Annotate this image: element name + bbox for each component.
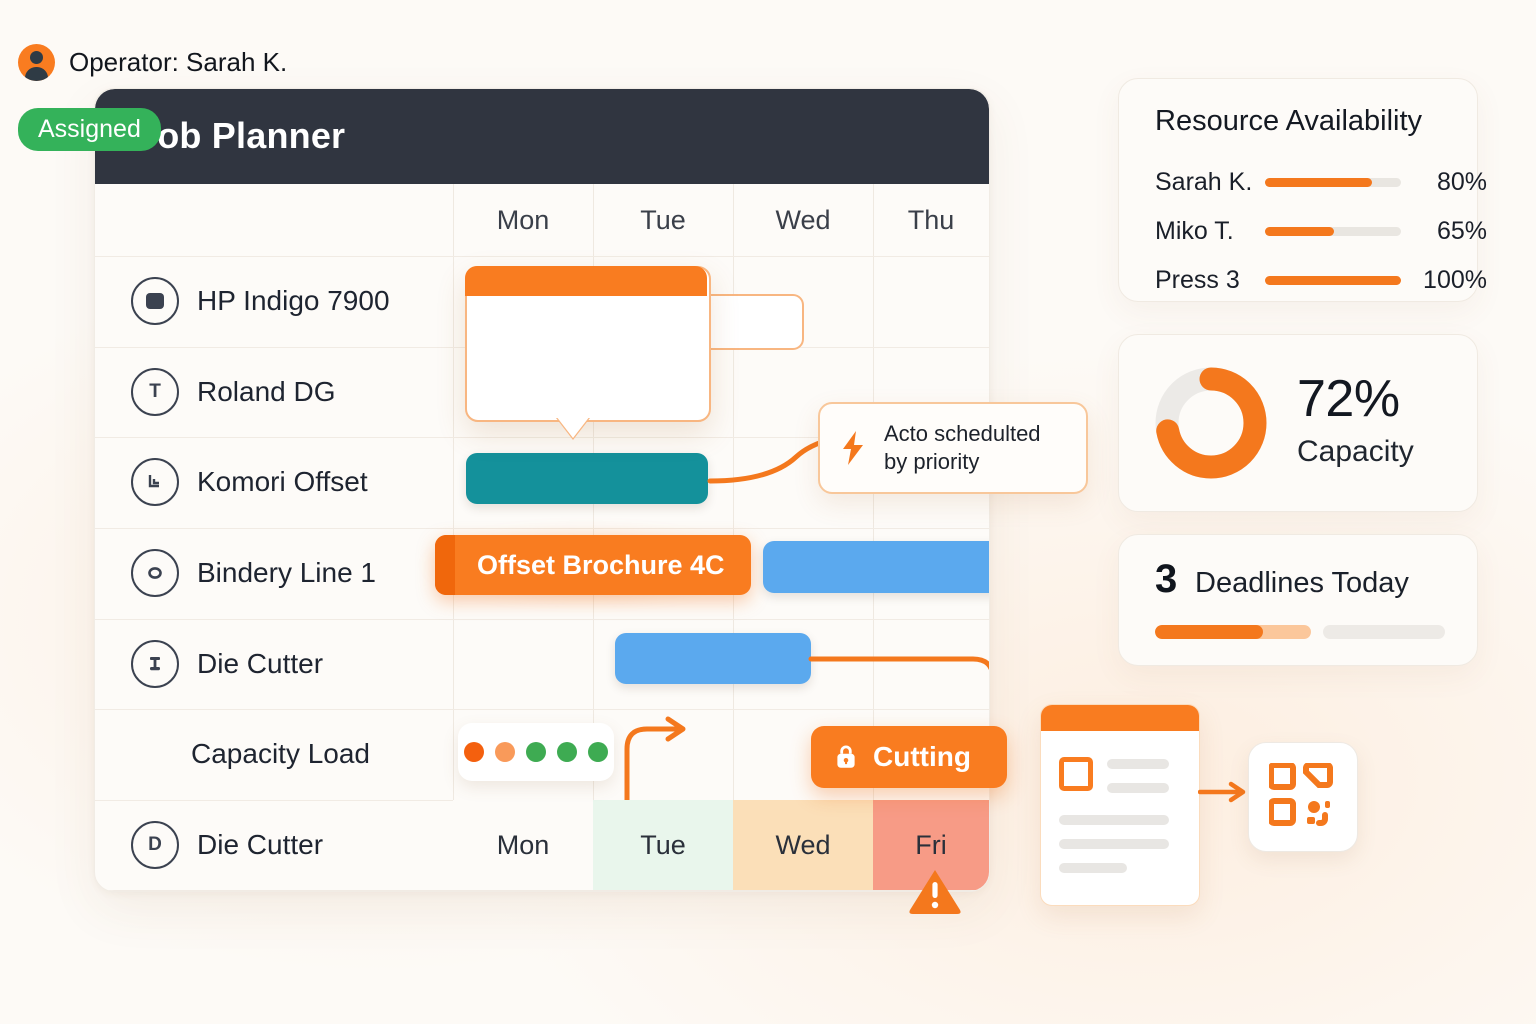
resource-progress-fill xyxy=(1265,276,1401,285)
resource-percent: 80% xyxy=(1401,168,1487,197)
row-capacity-load[interactable]: Capacity Load xyxy=(191,709,370,799)
bindery-job-bar-2[interactable] xyxy=(763,541,990,593)
row-label: Die Cutter xyxy=(197,829,323,861)
day-header-tue[interactable]: Tue xyxy=(593,184,733,256)
day-header-mon[interactable]: Mon xyxy=(453,184,593,256)
capacity-donut-chart xyxy=(1151,363,1271,488)
status-badge: Assigned xyxy=(18,108,161,151)
die-icon: D xyxy=(131,821,179,869)
day-header-wed[interactable]: Wed xyxy=(733,184,873,256)
capacity-panel: 72% Capacity xyxy=(1118,334,1478,512)
resource-percent: 100% xyxy=(1401,266,1487,295)
capacity-percent-value: 72% xyxy=(1297,369,1400,429)
deadlines-progress-b xyxy=(1323,625,1445,639)
capacity-dot xyxy=(588,742,608,762)
priority-callout-text: Acto schedulted by priority xyxy=(884,420,1041,476)
day-header-thu[interactable]: Thu xyxy=(873,184,989,256)
row-label: Roland DG xyxy=(197,376,336,408)
operator-popover[interactable] xyxy=(465,266,711,422)
deadlines-panel: 3 Deadlines Today xyxy=(1118,534,1478,666)
die-cutter-icon xyxy=(131,640,179,688)
row-die-cutter[interactable]: Die Cutter xyxy=(131,619,323,709)
capacity-dot xyxy=(464,742,484,762)
lightning-bolt-icon xyxy=(838,429,868,467)
resource-progress-fill xyxy=(1265,178,1372,187)
popover-accent-strip xyxy=(465,266,707,296)
capacity-caption: Capacity xyxy=(1297,435,1414,469)
resource-progress-track xyxy=(1265,178,1401,187)
bottom-day-mon[interactable]: Mon xyxy=(453,800,593,890)
capacity-load-dots[interactable] xyxy=(458,723,614,781)
qr-code-icon[interactable] xyxy=(1248,742,1358,852)
cutting-chip-label: Cutting xyxy=(873,741,971,773)
lock-icon xyxy=(833,743,859,771)
document-text-line xyxy=(1107,783,1169,793)
resource-name: Press 3 xyxy=(1155,266,1263,295)
document-thumbnail-icon xyxy=(1059,757,1093,791)
row-hp-indigo-7900[interactable]: HP Indigo 7900 xyxy=(131,256,390,346)
panel-title: Resource Availability xyxy=(1155,105,1422,138)
row-label: Die Cutter xyxy=(197,648,323,680)
row-komori-offset[interactable]: Komori Offset xyxy=(131,437,368,527)
document-text-line xyxy=(1059,815,1169,825)
bottom-day-tue[interactable]: Tue xyxy=(593,800,733,890)
document-text-line xyxy=(1059,863,1127,873)
user-avatar-icon xyxy=(18,44,55,81)
bindery-job-bar[interactable]: Offset Brochure 4C xyxy=(435,535,751,595)
resource-row-sarah[interactable]: Sarah K. 80% xyxy=(1155,167,1487,197)
row-label: Bindery Line 1 xyxy=(197,557,376,589)
arrow-right-icon xyxy=(1198,780,1248,804)
popover-tail xyxy=(556,416,590,438)
resource-progress-fill xyxy=(1265,227,1334,236)
capacity-dot xyxy=(526,742,546,762)
bindery-icon xyxy=(131,549,179,597)
operator-info-row: Operator: Sarah K. xyxy=(18,44,287,81)
deadlines-progress-a-fill xyxy=(1155,625,1263,639)
page-title: Job Planner xyxy=(137,115,345,157)
printer-icon xyxy=(131,277,179,325)
priority-callout[interactable]: Acto schedulted by priority xyxy=(818,402,1088,494)
resource-progress-track xyxy=(1265,276,1401,285)
offset-press-icon xyxy=(131,458,179,506)
capacity-dot xyxy=(557,742,577,762)
deadlines-progress-a xyxy=(1155,625,1311,639)
resource-progress-track xyxy=(1265,227,1401,236)
document-text-line xyxy=(1107,759,1169,769)
row-label: HP Indigo 7900 xyxy=(197,285,390,317)
bar-label: Offset Brochure 4C xyxy=(435,550,725,581)
komori-job-bar[interactable] xyxy=(466,453,708,504)
operator-name-text: Operator: Sarah K. xyxy=(69,47,287,78)
row-bindery-line-1[interactable]: Bindery Line 1 xyxy=(131,528,376,618)
bottom-day-wed[interactable]: Wed xyxy=(733,800,873,890)
warning-triangle-icon[interactable] xyxy=(907,866,963,916)
document-card-icon[interactable] xyxy=(1040,704,1200,906)
row-die-cutter-2[interactable]: D Die Cutter xyxy=(131,800,323,890)
resource-percent: 65% xyxy=(1401,217,1487,246)
resource-name: Sarah K. xyxy=(1155,168,1263,197)
resource-row-press3[interactable]: Press 3 100% xyxy=(1155,265,1487,295)
priority-line-1: Acto schedulted xyxy=(884,420,1041,448)
resource-row-miko[interactable]: Miko T. 65% xyxy=(1155,216,1487,246)
screenshot-root: Job Planner Mon Tue Wed Thu HP Indigo 79… xyxy=(0,0,1536,1024)
row-label: Capacity Load xyxy=(191,738,370,770)
capacity-dot xyxy=(495,742,515,762)
connector-arrow-to-die-cutter xyxy=(425,589,685,829)
document-header-strip xyxy=(1041,705,1199,731)
grid-line-horizontal xyxy=(95,890,989,891)
resource-name: Miko T. xyxy=(1155,217,1263,246)
resource-availability-panel: Resource Availability Sarah K. 80% Miko … xyxy=(1118,78,1478,302)
plotter-icon: T xyxy=(131,368,179,416)
deadlines-count: 3 xyxy=(1155,557,1177,602)
priority-line-2: by priority xyxy=(884,448,1041,476)
deadlines-label: Deadlines Today xyxy=(1195,567,1409,600)
row-label: Komori Offset xyxy=(197,466,368,498)
document-text-line xyxy=(1059,839,1169,849)
row-roland-dg[interactable]: T Roland DG xyxy=(131,347,336,437)
operator-popover-extension xyxy=(700,294,804,350)
cutting-status-chip[interactable]: Cutting xyxy=(811,726,1007,788)
